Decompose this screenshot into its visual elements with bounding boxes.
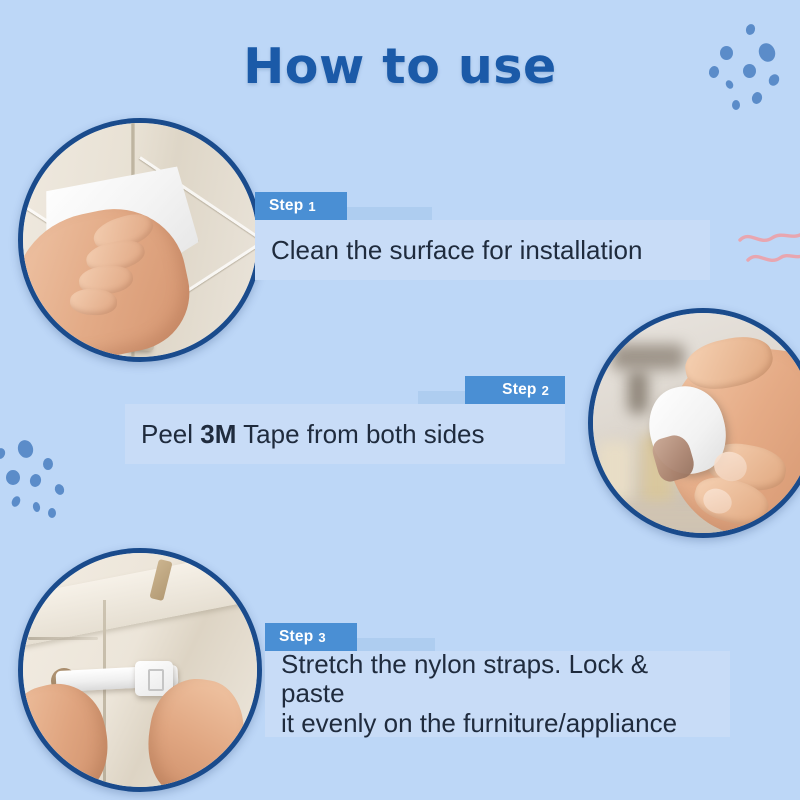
- page-title: How to use: [0, 38, 800, 95]
- squiggle-decoration: [734, 222, 800, 278]
- step-2-band: Peel 3M Tape from both sides: [125, 404, 565, 464]
- step-1-text: Clean the surface for installation: [255, 235, 710, 266]
- step-3-band: Stretch the nylon straps. Lock & paste i…: [265, 651, 730, 737]
- step-3-photo: [18, 548, 262, 792]
- step-3-badge-label: Step: [279, 628, 313, 646]
- step-3-text: Stretch the nylon straps. Lock & paste i…: [265, 650, 730, 737]
- step-2-text-bold: 3M: [200, 419, 236, 449]
- step-3-text-line2: it evenly on the furniture/appliance: [281, 708, 677, 738]
- step-2-badge-label: Step: [502, 381, 536, 399]
- scene-stretch-strap: [23, 553, 257, 787]
- dot-cluster-left: [0, 436, 88, 522]
- step-2-badge: Step 2: [465, 376, 565, 404]
- scene-peel-tape: [593, 313, 800, 533]
- step-3-text-line1: Stretch the nylon straps. Lock & paste: [281, 649, 648, 708]
- step-2-text-before: Peel: [141, 419, 200, 449]
- step-3-badge-number: 3: [318, 630, 325, 645]
- step-1-badge-label: Step: [269, 197, 303, 215]
- step-2-shelf: [418, 391, 465, 404]
- step-2-text: Peel 3M Tape from both sides: [125, 419, 565, 450]
- step-1-band: Clean the surface for installation: [255, 220, 710, 280]
- step-1-photo: [18, 118, 262, 362]
- step-2-text-after: Tape from both sides: [236, 419, 484, 449]
- step-1-badge-number: 1: [308, 199, 315, 214]
- step-2-badge-number: 2: [542, 383, 549, 398]
- step-2-photo: [588, 308, 800, 538]
- scene-clean-surface: [23, 123, 257, 357]
- step-3-badge: Step 3: [265, 623, 357, 651]
- step-1-shelf: [347, 207, 432, 220]
- step-1-badge: Step 1: [255, 192, 347, 220]
